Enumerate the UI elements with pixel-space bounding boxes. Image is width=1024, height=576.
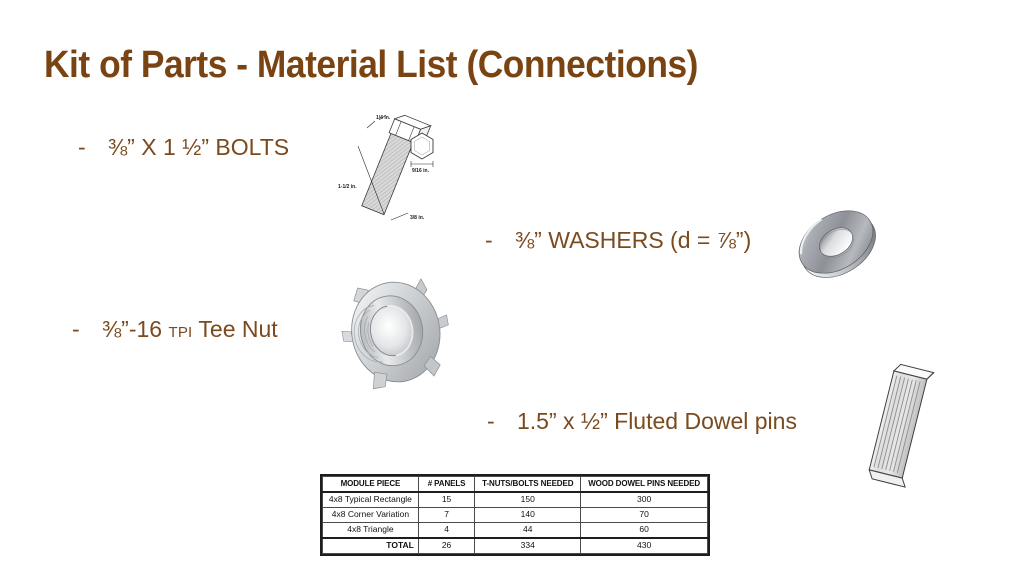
- bullet-dash: -: [78, 135, 108, 160]
- tee-nut-image: [330, 272, 462, 399]
- cell-total-tnuts: 334: [475, 538, 581, 554]
- cell-dowels: 70: [581, 508, 708, 523]
- cell-module-piece: 4x8 Corner Variation: [323, 508, 419, 523]
- bullet-dash: -: [485, 228, 515, 253]
- hex-bolt-diagram: 1/4 in. 1-1/2 in. 3/8 in. 9/16 i: [336, 108, 456, 230]
- col-header-tnuts-bolts: T-NUTS/BOLTS NEEDED: [475, 477, 581, 493]
- material-quantities-table: MODULE PIECE # PANELS T-NUTS/BOLTS NEEDE…: [320, 474, 710, 556]
- hex-bolt-svg: 1/4 in. 1-1/2 in. 3/8 in. 9/16 i: [336, 108, 456, 230]
- table-total-row: TOTAL 26 334 430: [323, 538, 708, 554]
- bullet-label-tee-nut-prefix: ⅜”-16: [102, 316, 168, 342]
- page-title: Kit of Parts - Material List (Connection…: [44, 44, 698, 87]
- cell-tnuts: 140: [475, 508, 581, 523]
- cell-module-piece: 4x8 Triangle: [323, 523, 419, 539]
- dim-across-flats: 9/16 in.: [412, 168, 430, 174]
- dim-head-thickness: 1/4 in.: [376, 115, 391, 121]
- cell-dowels: 300: [581, 492, 708, 508]
- fluted-dowel-pin-svg: [858, 358, 942, 492]
- bullet-item-washers: -⅜” WASHERS (d = ⅞”): [485, 228, 751, 253]
- cell-tnuts: 44: [475, 523, 581, 539]
- bullet-item-tee-nut: -⅜”-16 TPI Tee Nut: [72, 317, 278, 342]
- cell-total-dowels: 430: [581, 538, 708, 554]
- cell-total-panels: 26: [418, 538, 474, 554]
- cell-total-label: TOTAL: [323, 538, 419, 554]
- col-header-dowel-pins: WOOD DOWEL PINS NEEDED: [581, 477, 708, 493]
- bullet-dash: -: [72, 317, 102, 342]
- col-header-module-piece: MODULE PIECE: [323, 477, 419, 493]
- bullet-item-bolts: -⅜” X 1 ½” BOLTS: [78, 135, 289, 160]
- bullet-label-tee-nut-suffix: Tee Nut: [192, 316, 277, 342]
- bullet-label-bolts: ⅜” X 1 ½” BOLTS: [108, 134, 289, 160]
- bullet-label-washers: ⅜” WASHERS (d = ⅞”): [515, 227, 751, 253]
- bullet-label-tee-nut-tpi: TPI: [168, 324, 192, 341]
- col-header-panels: # PANELS: [418, 477, 474, 493]
- flat-washer-image: [780, 193, 892, 296]
- dim-bolt-length: 1-1/2 in.: [338, 184, 357, 190]
- cell-panels: 15: [418, 492, 474, 508]
- cell-panels: 4: [418, 523, 474, 539]
- cell-panels: 7: [418, 508, 474, 523]
- table-row: 4x8 Typical Rectangle 15 150 300: [323, 492, 708, 508]
- cell-module-piece: 4x8 Typical Rectangle: [323, 492, 419, 508]
- tee-nut-svg: [330, 272, 462, 394]
- slide-canvas: Kit of Parts - Material List (Connection…: [0, 0, 1024, 576]
- flat-washer-svg: [780, 193, 892, 291]
- bullet-label-dowel-pins: 1.5” x ½” Fluted Dowel pins: [517, 408, 797, 434]
- parts-table: MODULE PIECE # PANELS T-NUTS/BOLTS NEEDE…: [322, 476, 708, 554]
- table-header: MODULE PIECE # PANELS T-NUTS/BOLTS NEEDE…: [323, 477, 708, 493]
- table-row: 4x8 Triangle 4 44 60: [323, 523, 708, 539]
- table-header-row: MODULE PIECE # PANELS T-NUTS/BOLTS NEEDE…: [323, 477, 708, 493]
- bullet-dash: -: [487, 409, 517, 434]
- table-row: 4x8 Corner Variation 7 140 70: [323, 508, 708, 523]
- cell-dowels: 60: [581, 523, 708, 539]
- cell-tnuts: 150: [475, 492, 581, 508]
- bullet-item-dowel-pins: -1.5” x ½” Fluted Dowel pins: [487, 409, 797, 434]
- dim-shank-diameter: 3/8 in.: [410, 215, 425, 221]
- fluted-dowel-pin-image: [858, 358, 942, 497]
- table-body: 4x8 Typical Rectangle 15 150 300 4x8 Cor…: [323, 492, 708, 554]
